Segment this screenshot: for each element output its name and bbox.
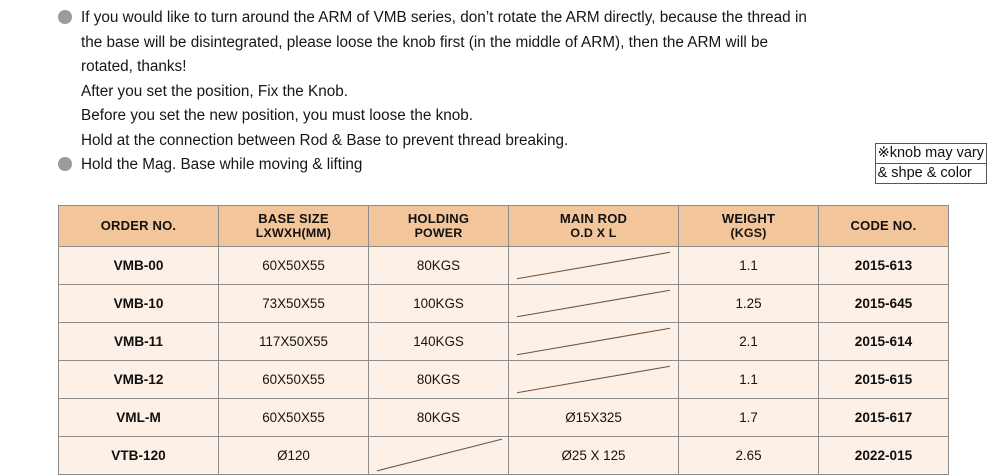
note-plain-lines: After you set the position, Fix the Knob… [81,80,818,154]
header-holding-power-sub: POWER [370,226,507,240]
header-main-rod-sub: O.D X L [510,226,677,240]
cell-order-no: VTB-120 [59,437,219,475]
cell-code-no: 2022-015 [819,437,949,475]
notes-block: If you would like to turn around the ARM… [58,6,818,178]
cell-main-rod [509,247,679,285]
cell-holding-power: 80KGS [369,247,509,285]
cell-main-rod [509,323,679,361]
table-header-row: ORDER NO. BASE SIZE LXWXH(MM) HOLDING PO… [59,206,949,247]
cell-main-rod [509,361,679,399]
note-row-2: Hold the Mag. Base while moving & liftin… [58,153,818,178]
header-weight-main: WEIGHT [722,211,775,226]
note-row-1: If you would like to turn around the ARM… [58,6,818,80]
cell-base-size: 73X50X55 [219,285,369,323]
header-main-rod: MAIN ROD O.D X L [509,206,679,247]
cell-base-size: 117X50X55 [219,323,369,361]
header-weight: WEIGHT (KGS) [679,206,819,247]
cell-weight: 1.1 [679,361,819,399]
header-base-size: BASE SIZE LXWXH(MM) [219,206,369,247]
cell-code-no: 2015-645 [819,285,949,323]
cell-code-no: 2015-615 [819,361,949,399]
table-row: VTB-120 Ø120 Ø25 X 125 2.65 2022-015 [59,437,949,475]
header-base-size-sub: LXWXH(MM) [220,226,367,240]
bullet-icon [58,10,72,24]
cell-main-rod: Ø25 X 125 [509,437,679,475]
cell-weight: 2.1 [679,323,819,361]
cell-order-no: VMB-00 [59,247,219,285]
diagonal-strike-icon [509,361,678,398]
table-row: VMB-11 117X50X55 140KGS 2.1 2015-614 [59,323,949,361]
note-line-3: Before you set the new position, you mus… [81,104,818,129]
cell-weight: 2.65 [679,437,819,475]
bullet-icon [58,157,72,171]
cell-weight: 1.1 [679,247,819,285]
table-row: VMB-00 60X50X55 80KGS 1.1 2015-613 [59,247,949,285]
document-page: If you would like to turn around the ARM… [0,0,1003,445]
cell-base-size: Ø120 [219,437,369,475]
cell-holding-power: 100KGS [369,285,509,323]
note-line-4: Hold at the connection between Rod & Bas… [81,129,818,154]
header-weight-sub: (KGS) [680,226,817,240]
cell-holding-power [369,437,509,475]
cell-order-no: VMB-11 [59,323,219,361]
diagonal-strike-icon [509,247,678,284]
header-holding-power-main: HOLDING [408,211,469,226]
cell-code-no: 2015-613 [819,247,949,285]
spec-table: ORDER NO. BASE SIZE LXWXH(MM) HOLDING PO… [58,205,949,475]
header-main-rod-main: MAIN ROD [560,211,627,226]
cell-main-rod: Ø15X325 [509,399,679,437]
cell-order-no: VML-M [59,399,219,437]
cell-base-size: 60X50X55 [219,247,369,285]
note-1-text: If you would like to turn around the ARM… [81,6,818,80]
table-row: VML-M 60X50X55 80KGS Ø15X325 1.7 2015-61… [59,399,949,437]
cell-base-size: 60X50X55 [219,399,369,437]
table-row: VMB-10 73X50X55 100KGS 1.25 2015-645 [59,285,949,323]
knob-note-line-1: ※knob may vary [875,143,987,163]
header-code-no: CODE NO. [819,206,949,247]
knob-note: ※knob may vary & shpe & color [875,143,987,184]
diagonal-strike-icon [509,285,678,322]
cell-order-no: VMB-10 [59,285,219,323]
table-body: VMB-00 60X50X55 80KGS 1.1 2015-613 VMB-1… [59,247,949,475]
header-order-no-main: ORDER NO. [101,218,176,233]
note-2-text: Hold the Mag. Base while moving & liftin… [81,153,362,178]
cell-base-size: 60X50X55 [219,361,369,399]
cell-holding-power: 80KGS [369,399,509,437]
cell-order-no: VMB-12 [59,361,219,399]
header-holding-power: HOLDING POWER [369,206,509,247]
diagonal-strike-icon [509,323,678,360]
cell-weight: 1.25 [679,285,819,323]
knob-note-line-2: & shpe & color [875,163,987,184]
header-base-size-main: BASE SIZE [258,211,328,226]
cell-code-no: 2015-614 [819,323,949,361]
spec-table-wrapper: ORDER NO. BASE SIZE LXWXH(MM) HOLDING PO… [58,205,948,475]
table-row: VMB-12 60X50X55 80KGS 1.1 2015-615 [59,361,949,399]
note-line-2: After you set the position, Fix the Knob… [81,80,818,105]
header-code-no-main: CODE NO. [851,218,917,233]
diagonal-strike-icon [369,437,508,474]
cell-weight: 1.7 [679,399,819,437]
cell-holding-power: 80KGS [369,361,509,399]
table-header: ORDER NO. BASE SIZE LXWXH(MM) HOLDING PO… [59,206,949,247]
cell-code-no: 2015-617 [819,399,949,437]
header-order-no: ORDER NO. [59,206,219,247]
cell-holding-power: 140KGS [369,323,509,361]
cell-main-rod [509,285,679,323]
